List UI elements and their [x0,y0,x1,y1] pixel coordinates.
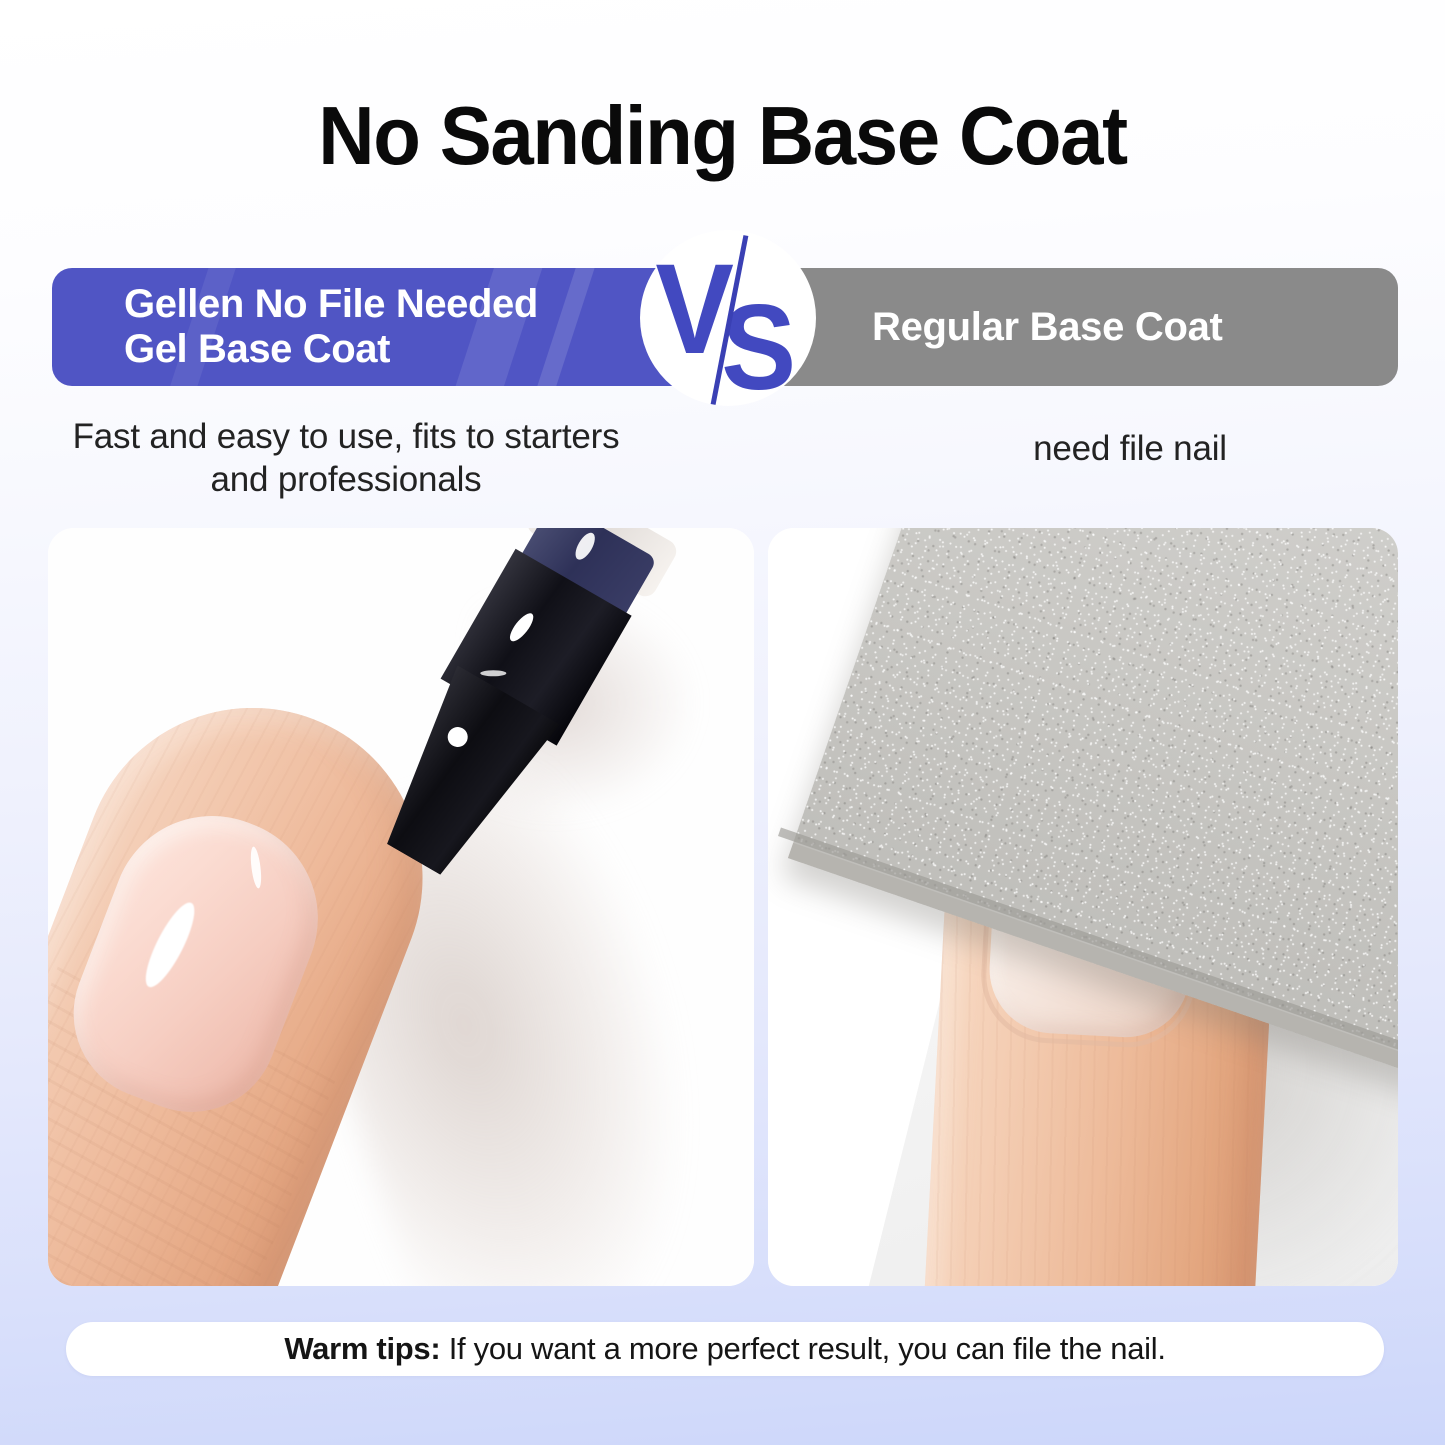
banner-gellen-line1: Gellen No File Needed [124,282,538,327]
banner-regular-product: Regular Base Coat [742,268,1398,386]
warm-tips-bar: Warm tips: If you want a more perfect re… [66,1322,1384,1376]
page-title: No Sanding Base Coat [43,88,1401,184]
warm-tips-body: If you want a more perfect result, you c… [440,1331,1165,1366]
caption-regular: need file nail [742,428,1398,471]
photo-gellen-base-coat [48,528,754,1286]
banner-gellen-label: Gellen No File Needed Gel Base Coat [52,282,634,372]
photo-regular-base-coat [768,528,1398,1286]
infographic-page: No Sanding Base Coat Gellen No File Need… [0,0,1445,1445]
warm-tips-label: Warm tips: [284,1331,440,1366]
warm-tips-text: Warm tips: If you want a more perfect re… [284,1331,1165,1367]
banner-gellen-line2: Gel Base Coat [124,327,538,372]
brush-highlight [480,670,506,676]
vs-badge-icon: V S [640,230,816,406]
banner-gellen-product: Gellen No File Needed Gel Base Coat [52,268,732,386]
nail-gloss-highlight [249,846,263,889]
caption-gellen: Fast and easy to use, fits to starters a… [52,416,732,501]
nail-gloss-highlight [137,897,203,993]
